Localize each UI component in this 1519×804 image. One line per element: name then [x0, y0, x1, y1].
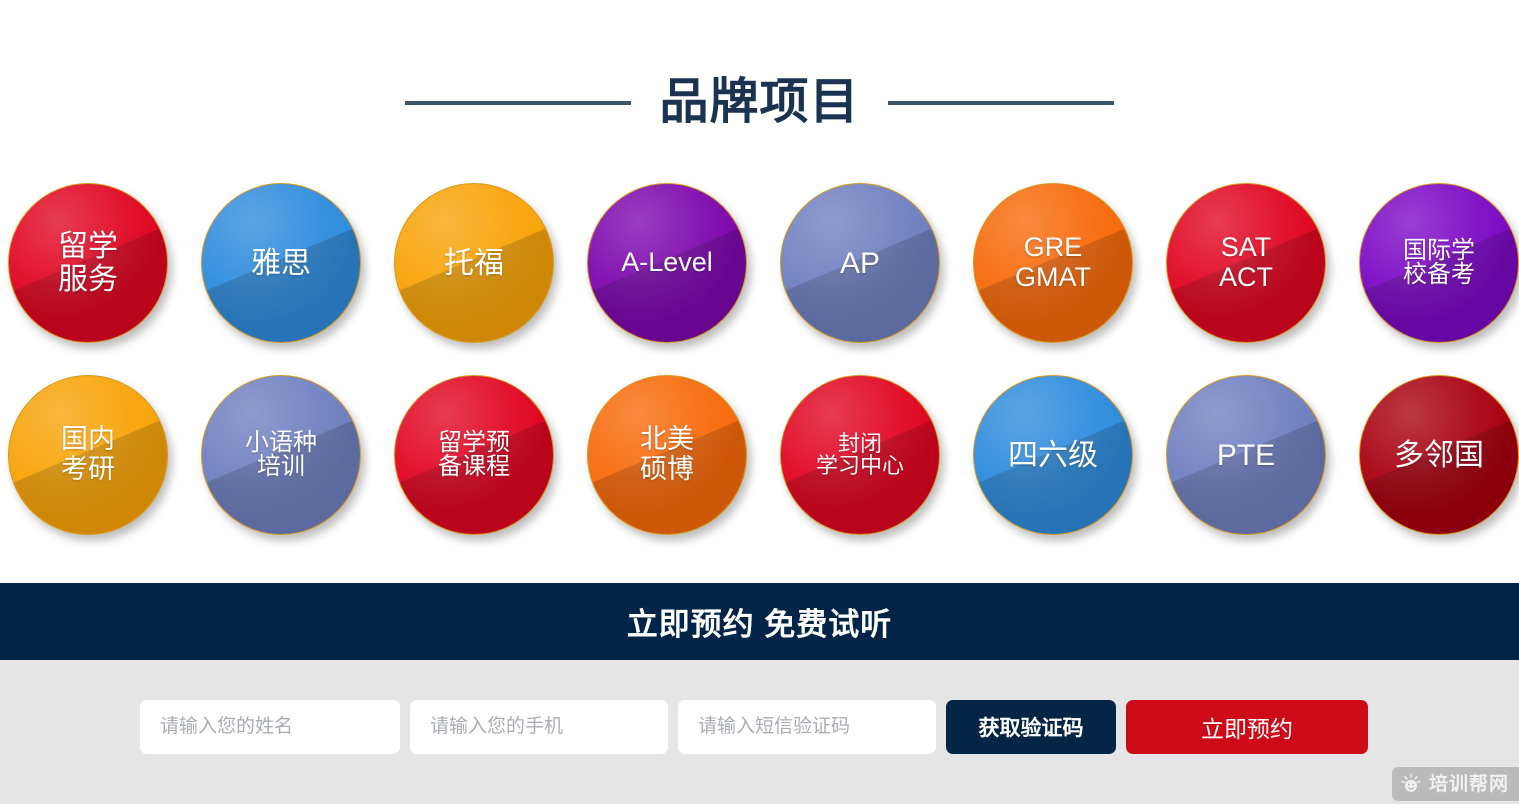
sms-code-input[interactable]: [678, 700, 936, 754]
heading-rule-left: [405, 101, 631, 105]
sun-face-icon: [1400, 773, 1422, 795]
program-bubble-fengbi-xuexi-zhongxin[interactable]: 封闭 学习中心: [780, 375, 940, 535]
program-bubble-a-level[interactable]: A-Level: [587, 183, 747, 343]
program-bubble-ap[interactable]: AP: [780, 183, 940, 343]
program-bubble-xiaoyuzhong-peixun[interactable]: 小语种 培训: [201, 375, 361, 535]
program-label: 托福: [438, 247, 510, 280]
submit-booking-button[interactable]: 立即预约: [1126, 700, 1368, 754]
program-label: 四六级: [1002, 439, 1104, 472]
program-label: 小语种 培训: [239, 431, 323, 480]
program-bubble-pte[interactable]: PTE: [1166, 375, 1326, 535]
program-label: 多邻国: [1388, 439, 1490, 472]
program-label: SAT ACT: [1213, 233, 1279, 292]
program-bubble-duolinguo[interactable]: 多邻国: [1359, 375, 1519, 535]
program-label: A-Level: [615, 248, 719, 278]
program-bubble-international-school-prep[interactable]: 国际学 校备考: [1359, 183, 1519, 343]
program-bubble-sat-act[interactable]: SAT ACT: [1166, 183, 1326, 343]
booking-form: 获取验证码 立即预约: [140, 700, 1368, 754]
section-heading: 品牌项目: [0, 60, 1519, 145]
program-bubble-yasi[interactable]: 雅思: [201, 183, 361, 343]
program-row-2: 国内 考研 小语种 培训 留学预 备课程 北美 硕博 封闭 学习中心 四六级 P…: [8, 375, 1511, 535]
program-label: 留学预 备课程: [432, 431, 516, 480]
heading-rule-right: [888, 101, 1114, 105]
program-label: 封闭 学习中心: [810, 433, 910, 478]
get-verification-code-button[interactable]: 获取验证码: [946, 700, 1116, 754]
site-watermark: 培训帮网: [1392, 767, 1519, 801]
program-label: 留学 服务: [52, 230, 124, 296]
program-bubble-liuxue-yubei[interactable]: 留学预 备课程: [394, 375, 554, 535]
name-input[interactable]: [140, 700, 400, 754]
program-bubble-guonei-kaoyan[interactable]: 国内 考研: [8, 375, 168, 535]
cta-banner: 立即预约 免费试听: [0, 583, 1519, 660]
program-label: 国内 考研: [55, 425, 121, 484]
program-row-1: 留学 服务 雅思 托福 A-Level AP GRE GMAT SAT ACT …: [8, 183, 1511, 343]
watermark-label: 培训帮网: [1429, 775, 1509, 794]
program-bubble-beimei-shuobo[interactable]: 北美 硕博: [587, 375, 747, 535]
program-label: 北美 硕博: [634, 425, 700, 484]
cta-banner-text: 立即预约 免费试听: [627, 599, 893, 644]
program-label: 国际学 校备考: [1397, 239, 1481, 288]
program-label: 雅思: [245, 247, 317, 280]
program-grid: 留学 服务 雅思 托福 A-Level AP GRE GMAT SAT ACT …: [8, 183, 1511, 535]
page-title: 品牌项目: [659, 78, 859, 127]
booking-form-strip: 获取验证码 立即预约: [0, 660, 1519, 804]
program-bubble-gre-gmat[interactable]: GRE GMAT: [973, 183, 1133, 343]
program-bubble-liuxuefuwu[interactable]: 留学 服务: [8, 183, 168, 343]
program-bubble-tuofu[interactable]: 托福: [394, 183, 554, 343]
program-bubble-siliuji[interactable]: 四六级: [973, 375, 1133, 535]
program-label: GRE GMAT: [1009, 233, 1097, 292]
program-label: PTE: [1211, 439, 1281, 472]
program-label: AP: [834, 247, 886, 280]
phone-input[interactable]: [410, 700, 668, 754]
